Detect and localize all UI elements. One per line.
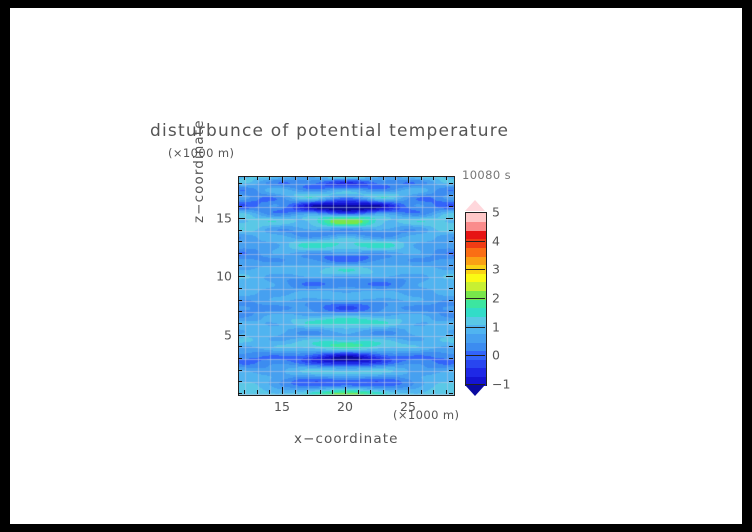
y-tick-minor <box>449 311 453 312</box>
y-tick-minor <box>238 253 242 254</box>
y-tick-minor <box>449 370 453 371</box>
y-tick-minor <box>449 265 453 266</box>
colorbar-band <box>466 368 486 377</box>
colorbar-band <box>466 333 486 342</box>
x-tick-minor <box>345 387 346 394</box>
colorbar-band <box>466 213 486 222</box>
y-tick-minor <box>238 206 242 207</box>
x-tick-minor <box>358 390 359 394</box>
x-tick-minor <box>320 176 321 180</box>
y-tick-minor <box>238 276 245 277</box>
colorbar-band <box>466 299 486 308</box>
x-axis-label: x−coordinate <box>294 431 399 447</box>
y-tick-minor <box>238 288 242 289</box>
y-tick-minor <box>238 241 242 242</box>
y-tick-minor <box>238 335 245 336</box>
y-tick-label: 5 <box>208 328 232 343</box>
colorbar-band <box>466 308 486 317</box>
colorbar-tick-label: 5 <box>492 205 500 220</box>
y-tick-minor <box>449 241 453 242</box>
x-tick-minor <box>358 176 359 180</box>
colorbar <box>465 212 487 386</box>
x-tick-minor <box>257 390 258 394</box>
y-tick-minor <box>238 370 242 371</box>
contour-field-canvas <box>239 177 454 395</box>
figure-page: disturbunce of potential temperature (×1… <box>10 8 742 524</box>
y-axis-label: z−coordinate <box>191 119 207 223</box>
y-tick-minor <box>238 381 242 382</box>
colorbar-band <box>466 230 486 239</box>
colorbar-band <box>466 316 486 325</box>
colorbar-band <box>466 273 486 282</box>
colorbar-band <box>466 282 486 291</box>
x-tick-minor <box>446 390 447 394</box>
x-tick-minor <box>244 390 245 394</box>
y-tick-minor <box>238 183 242 184</box>
y-tick-minor <box>238 323 242 324</box>
x-tick-minor <box>395 390 396 394</box>
y-tick-label: 10 <box>208 269 232 284</box>
x-tick-minor <box>269 390 270 394</box>
x-tick-label: 15 <box>274 399 290 414</box>
x-tick-minor <box>295 176 296 180</box>
y-tick-minor <box>449 230 453 231</box>
x-tick-minor <box>332 176 333 180</box>
x-tick-minor <box>282 176 283 183</box>
y-tick-minor <box>238 265 242 266</box>
x-tick-minor <box>307 390 308 394</box>
x-tick-minor <box>433 176 434 180</box>
y-tick-minor <box>449 393 453 394</box>
y-tick-minor <box>449 323 453 324</box>
colorbar-tick <box>465 327 485 328</box>
colorbar-tick <box>465 212 485 213</box>
colorbar-over-arrow <box>465 200 485 211</box>
x-tick-minor <box>282 387 283 394</box>
image-frame: disturbunce of potential temperature (×1… <box>0 0 752 532</box>
y-tick-minor <box>449 206 453 207</box>
x-tick-label: 20 <box>337 399 353 414</box>
x-tick-minor <box>332 390 333 394</box>
contour-plot-area <box>238 176 455 396</box>
x-tick-minor <box>383 176 384 180</box>
y-tick-minor <box>238 195 242 196</box>
timestamp-label: 10080 s <box>462 168 511 182</box>
colorbar-tick <box>465 269 485 270</box>
y-tick-minor <box>449 381 453 382</box>
colorbar-tick-label: 0 <box>492 348 500 363</box>
colorbar-band <box>466 342 486 351</box>
y-tick-minor <box>449 195 453 196</box>
x-tick-minor <box>269 176 270 180</box>
x-tick-minor <box>408 387 409 394</box>
y-tick-minor <box>446 218 453 219</box>
colorbar-band <box>466 247 486 256</box>
y-tick-minor <box>449 288 453 289</box>
colorbar-tick <box>465 355 485 356</box>
y-tick-minor <box>446 335 453 336</box>
x-tick-minor <box>383 390 384 394</box>
y-tick-minor <box>238 300 242 301</box>
y-tick-minor <box>238 346 242 347</box>
colorbar-tick-label: 3 <box>492 262 500 277</box>
x-tick-minor <box>295 390 296 394</box>
x-tick-minor <box>307 176 308 180</box>
x-tick-minor <box>408 176 409 183</box>
colorbar-tick <box>465 384 485 385</box>
colorbar-band <box>466 256 486 265</box>
x-tick-minor <box>446 176 447 180</box>
x-tick-minor <box>244 176 245 180</box>
y-tick-minor <box>238 393 242 394</box>
x-tick-label: 25 <box>400 399 416 414</box>
x-tick-minor <box>395 176 396 180</box>
y-tick-label: 15 <box>208 211 232 226</box>
x-tick-minor <box>421 176 422 180</box>
y-tick-minor <box>449 300 453 301</box>
y-tick-minor <box>238 358 242 359</box>
colorbar-tick <box>465 298 485 299</box>
x-tick-minor <box>345 176 346 183</box>
colorbar-under-arrow <box>465 385 485 396</box>
x-tick-minor <box>257 176 258 180</box>
x-tick-minor <box>370 176 371 180</box>
x-tick-minor <box>433 390 434 394</box>
colorbar-band <box>466 222 486 231</box>
y-tick-minor <box>449 358 453 359</box>
x-tick-minor <box>421 390 422 394</box>
y-tick-minor <box>238 311 242 312</box>
colorbar-tick-label: 1 <box>492 319 500 334</box>
x-tick-minor <box>320 390 321 394</box>
colorbar-tick-label: 4 <box>492 233 500 248</box>
y-tick-minor <box>446 276 453 277</box>
colorbar-band <box>466 359 486 368</box>
colorbar-tick-label: −1 <box>492 377 510 392</box>
y-tick-minor <box>238 218 245 219</box>
y-tick-minor <box>449 346 453 347</box>
y-tick-minor <box>238 230 242 231</box>
y-tick-minor <box>449 253 453 254</box>
x-tick-minor <box>370 390 371 394</box>
y-tick-minor <box>449 183 453 184</box>
colorbar-tick <box>465 241 485 242</box>
colorbar-tick-label: 2 <box>492 291 500 306</box>
